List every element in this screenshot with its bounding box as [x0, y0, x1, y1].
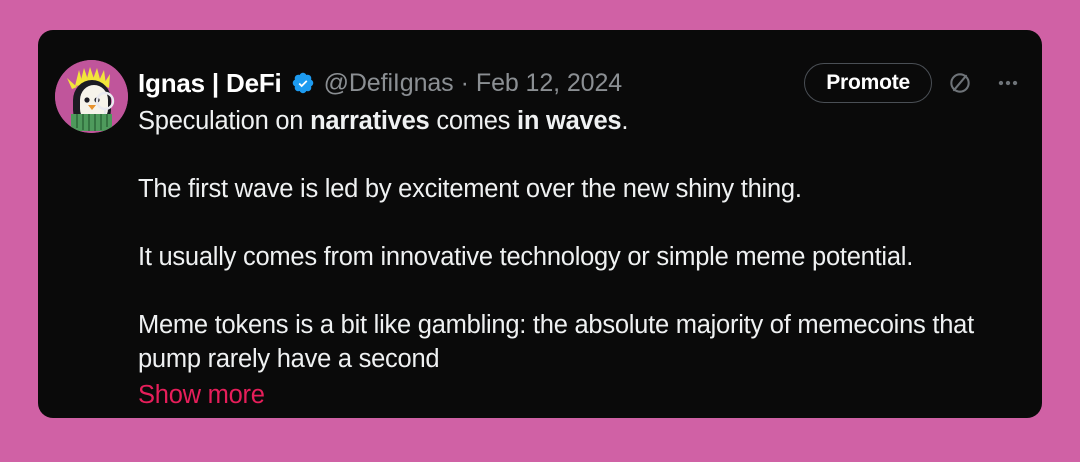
display-name[interactable]: Ignas | DeFi — [138, 70, 282, 96]
text-run: . — [621, 107, 628, 135]
verified-badge-icon — [291, 71, 315, 95]
tweet-header: Ignas | DeFi @DefiIgnas · Feb 12, 2024 P… — [138, 63, 1028, 103]
text-run-bold: in waves — [517, 107, 621, 135]
tweet-card: Ignas | DeFi @DefiIgnas · Feb 12, 2024 P… — [38, 30, 1042, 418]
tweet-paragraphs: Speculation on narratives comes in waves… — [138, 104, 1014, 376]
show-more-link[interactable]: Show more — [138, 378, 265, 412]
handle[interactable]: @DefiIgnas — [324, 71, 454, 96]
text-run: Speculation on — [138, 107, 310, 135]
timestamp[interactable]: Feb 12, 2024 — [476, 71, 622, 96]
avatar[interactable] — [55, 60, 128, 133]
text-run: comes — [429, 107, 517, 135]
page-background: Ignas | DeFi @DefiIgnas · Feb 12, 2024 P… — [0, 0, 1080, 462]
penguin-avatar-icon — [55, 60, 128, 133]
circle-slash-icon[interactable] — [940, 63, 980, 103]
tweet-paragraph: Meme tokens is a bit like gambling: the … — [138, 308, 1014, 376]
tweet-text: Speculation on narratives comes in waves… — [138, 104, 1014, 412]
tweet-paragraph: It usually comes from innovative technol… — [138, 240, 1014, 274]
text-run-bold: narratives — [310, 107, 429, 135]
text-run: It usually comes from innovative technol… — [138, 243, 913, 271]
separator: · — [461, 71, 469, 96]
more-horizontal-icon[interactable] — [988, 63, 1028, 103]
author-line: Ignas | DeFi @DefiIgnas · Feb 12, 2024 — [138, 70, 622, 96]
promote-button[interactable]: Promote — [804, 63, 932, 103]
tweet-paragraph: Speculation on narratives comes in waves… — [138, 104, 1014, 138]
tweet-paragraph: The first wave is led by excitement over… — [138, 172, 1014, 206]
header-actions: Promote — [804, 63, 1028, 103]
text-run: Meme tokens is a bit like gambling: the … — [138, 311, 974, 373]
text-run: The first wave is led by excitement over… — [138, 175, 802, 203]
